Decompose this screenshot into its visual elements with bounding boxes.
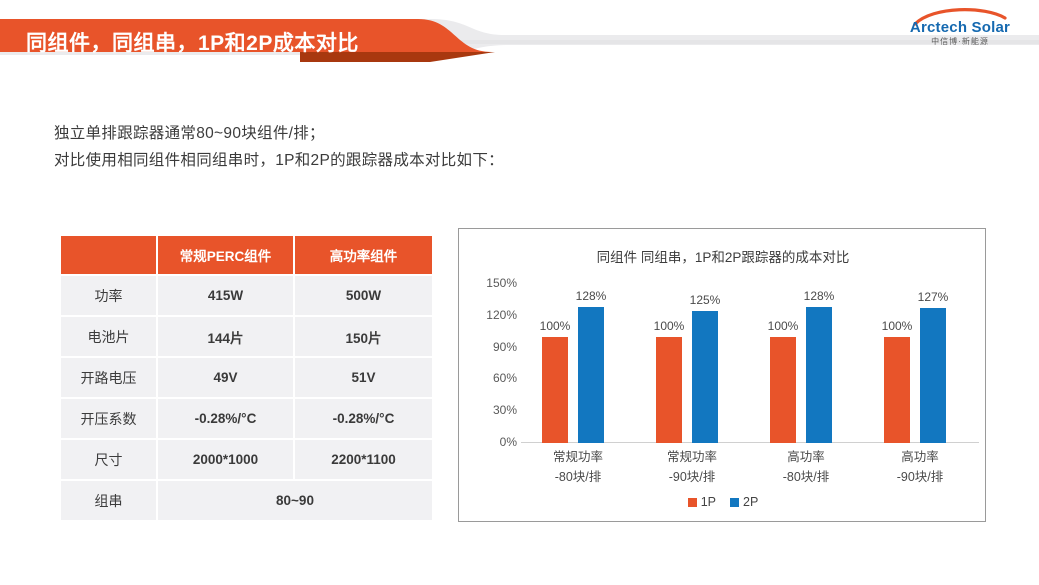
x-axis-label-line: 高功率	[863, 447, 977, 467]
slide-header: 同组件，同组串，1P和2P成本对比 Arctech Solar 中信博·新能源	[0, 0, 1039, 66]
legend-label: 2P	[743, 495, 758, 509]
x-axis-label-line: -80块/排	[749, 467, 863, 487]
table-cell-high: -0.28%/°C	[295, 399, 432, 440]
table-header-blank	[61, 236, 158, 276]
bar-value-label: 128%	[561, 289, 621, 303]
y-axis-tick: 0%	[500, 435, 517, 449]
intro-line-1: 独立单排跟踪器通常80~90块组件/排；	[54, 120, 504, 147]
table-row: 组串80~90	[61, 481, 432, 522]
x-axis-label: 常规功率-90块/排	[635, 447, 749, 487]
table-row-label: 开路电压	[61, 358, 158, 399]
table-body: 功率415W500W电池片144片150片开路电压49V51V开压系数-0.28…	[61, 276, 432, 522]
bar-1p	[884, 337, 910, 443]
table-cell-perc: 144片	[158, 317, 295, 358]
logo-name: Arctech Solar	[895, 19, 1025, 36]
bar-2p	[692, 311, 718, 444]
page-title: 同组件，同组串，1P和2P成本对比	[26, 27, 359, 57]
table-row: 功率415W500W	[61, 276, 432, 317]
company-logo: Arctech Solar 中信博·新能源	[895, 6, 1025, 50]
logo-subtitle: 中信博·新能源	[895, 36, 1025, 47]
bar-groups: 100%128%100%125%100%128%100%127%	[521, 271, 979, 443]
table-cell-high: 150片	[295, 317, 432, 358]
table-cell-high: 2200*1100	[295, 440, 432, 481]
table-header-high-power: 高功率组件	[295, 236, 432, 276]
bar-group: 100%128%	[521, 271, 635, 443]
bar-2p	[578, 307, 604, 443]
legend-item-1p[interactable]: 1P	[688, 495, 716, 509]
x-axis-label-line: -80块/排	[521, 467, 635, 487]
table-cell-high: 500W	[295, 276, 432, 317]
table-cell-perc: 415W	[158, 276, 295, 317]
legend-swatch-icon	[688, 498, 697, 507]
y-axis-ticks: 0%30%60%90%120%150%	[463, 271, 517, 443]
x-axis-label-line: 常规功率	[521, 447, 635, 467]
bar-group: 100%127%	[863, 271, 977, 443]
table-header-perc: 常规PERC组件	[158, 236, 295, 276]
cost-comparison-chart: 同组件 同组串，1P和2P跟踪器的成本对比 0%30%60%90%120%150…	[458, 228, 986, 522]
table-cell-perc: 2000*1000	[158, 440, 295, 481]
table-cell-perc: 49V	[158, 358, 295, 399]
bar-group: 100%125%	[635, 271, 749, 443]
table-row-label: 功率	[61, 276, 158, 317]
intro-text-block: 独立单排跟踪器通常80~90块组件/排； 对比使用相同组件相同组串时，1P和2P…	[54, 120, 504, 174]
table-row: 电池片144片150片	[61, 317, 432, 358]
bar-value-label: 100%	[639, 319, 699, 333]
x-axis-label: 高功率-80块/排	[749, 447, 863, 487]
bar-1p	[656, 337, 682, 443]
table-row: 开路电压49V51V	[61, 358, 432, 399]
bar-value-label: 127%	[903, 290, 963, 304]
x-axis-label-line: -90块/排	[635, 467, 749, 487]
bar-value-label: 100%	[525, 319, 585, 333]
table-row-label: 电池片	[61, 317, 158, 358]
x-axis-label-line: -90块/排	[863, 467, 977, 487]
table-row: 尺寸2000*10002200*1100	[61, 440, 432, 481]
x-axis-label: 高功率-90块/排	[863, 447, 977, 487]
chart-legend: 1P2P	[459, 495, 987, 509]
y-axis-tick: 60%	[493, 371, 517, 385]
bar-1p	[770, 337, 796, 443]
y-axis-tick: 90%	[493, 340, 517, 354]
bar-2p	[806, 307, 832, 443]
intro-line-2: 对比使用相同组件相同组串时，1P和2P的跟踪器成本对比如下：	[54, 147, 504, 174]
bar-value-label: 125%	[675, 293, 735, 307]
chart-title: 同组件 同组串，1P和2P跟踪器的成本对比	[459, 246, 987, 266]
bar-2p	[920, 308, 946, 443]
x-axis-label-line: 常规功率	[635, 447, 749, 467]
table-row: 开压系数-0.28%/°C-0.28%/°C	[61, 399, 432, 440]
table-cell-perc: -0.28%/°C	[158, 399, 295, 440]
table-row-label: 组串	[61, 481, 158, 522]
y-axis-tick: 150%	[486, 276, 517, 290]
bar-value-label: 100%	[753, 319, 813, 333]
bar-value-label: 100%	[867, 319, 927, 333]
legend-swatch-icon	[730, 498, 739, 507]
table-cell-merged: 80~90	[158, 481, 432, 522]
x-axis-label: 常规功率-80块/排	[521, 447, 635, 487]
table-row-label: 开压系数	[61, 399, 158, 440]
legend-label: 1P	[701, 495, 716, 509]
slide-page: 同组件，同组串，1P和2P成本对比 Arctech Solar 中信博·新能源 …	[0, 0, 1039, 585]
y-axis-tick: 120%	[486, 308, 517, 322]
table-cell-high: 51V	[295, 358, 432, 399]
table-header-row: 常规PERC组件 高功率组件	[61, 236, 432, 276]
x-axis-labels: 常规功率-80块/排常规功率-90块/排高功率-80块/排高功率-90块/排	[521, 447, 979, 491]
bar-group: 100%128%	[749, 271, 863, 443]
legend-item-2p[interactable]: 2P	[730, 495, 758, 509]
table-row-label: 尺寸	[61, 440, 158, 481]
module-spec-table: 常规PERC组件 高功率组件 功率415W500W电池片144片150片开路电压…	[61, 236, 432, 522]
y-axis-tick: 30%	[493, 403, 517, 417]
x-axis-label-line: 高功率	[749, 447, 863, 467]
bar-1p	[542, 337, 568, 443]
bar-value-label: 128%	[789, 289, 849, 303]
chart-plot-area: 0%30%60%90%120%150% 100%128%100%125%100%…	[459, 271, 987, 443]
